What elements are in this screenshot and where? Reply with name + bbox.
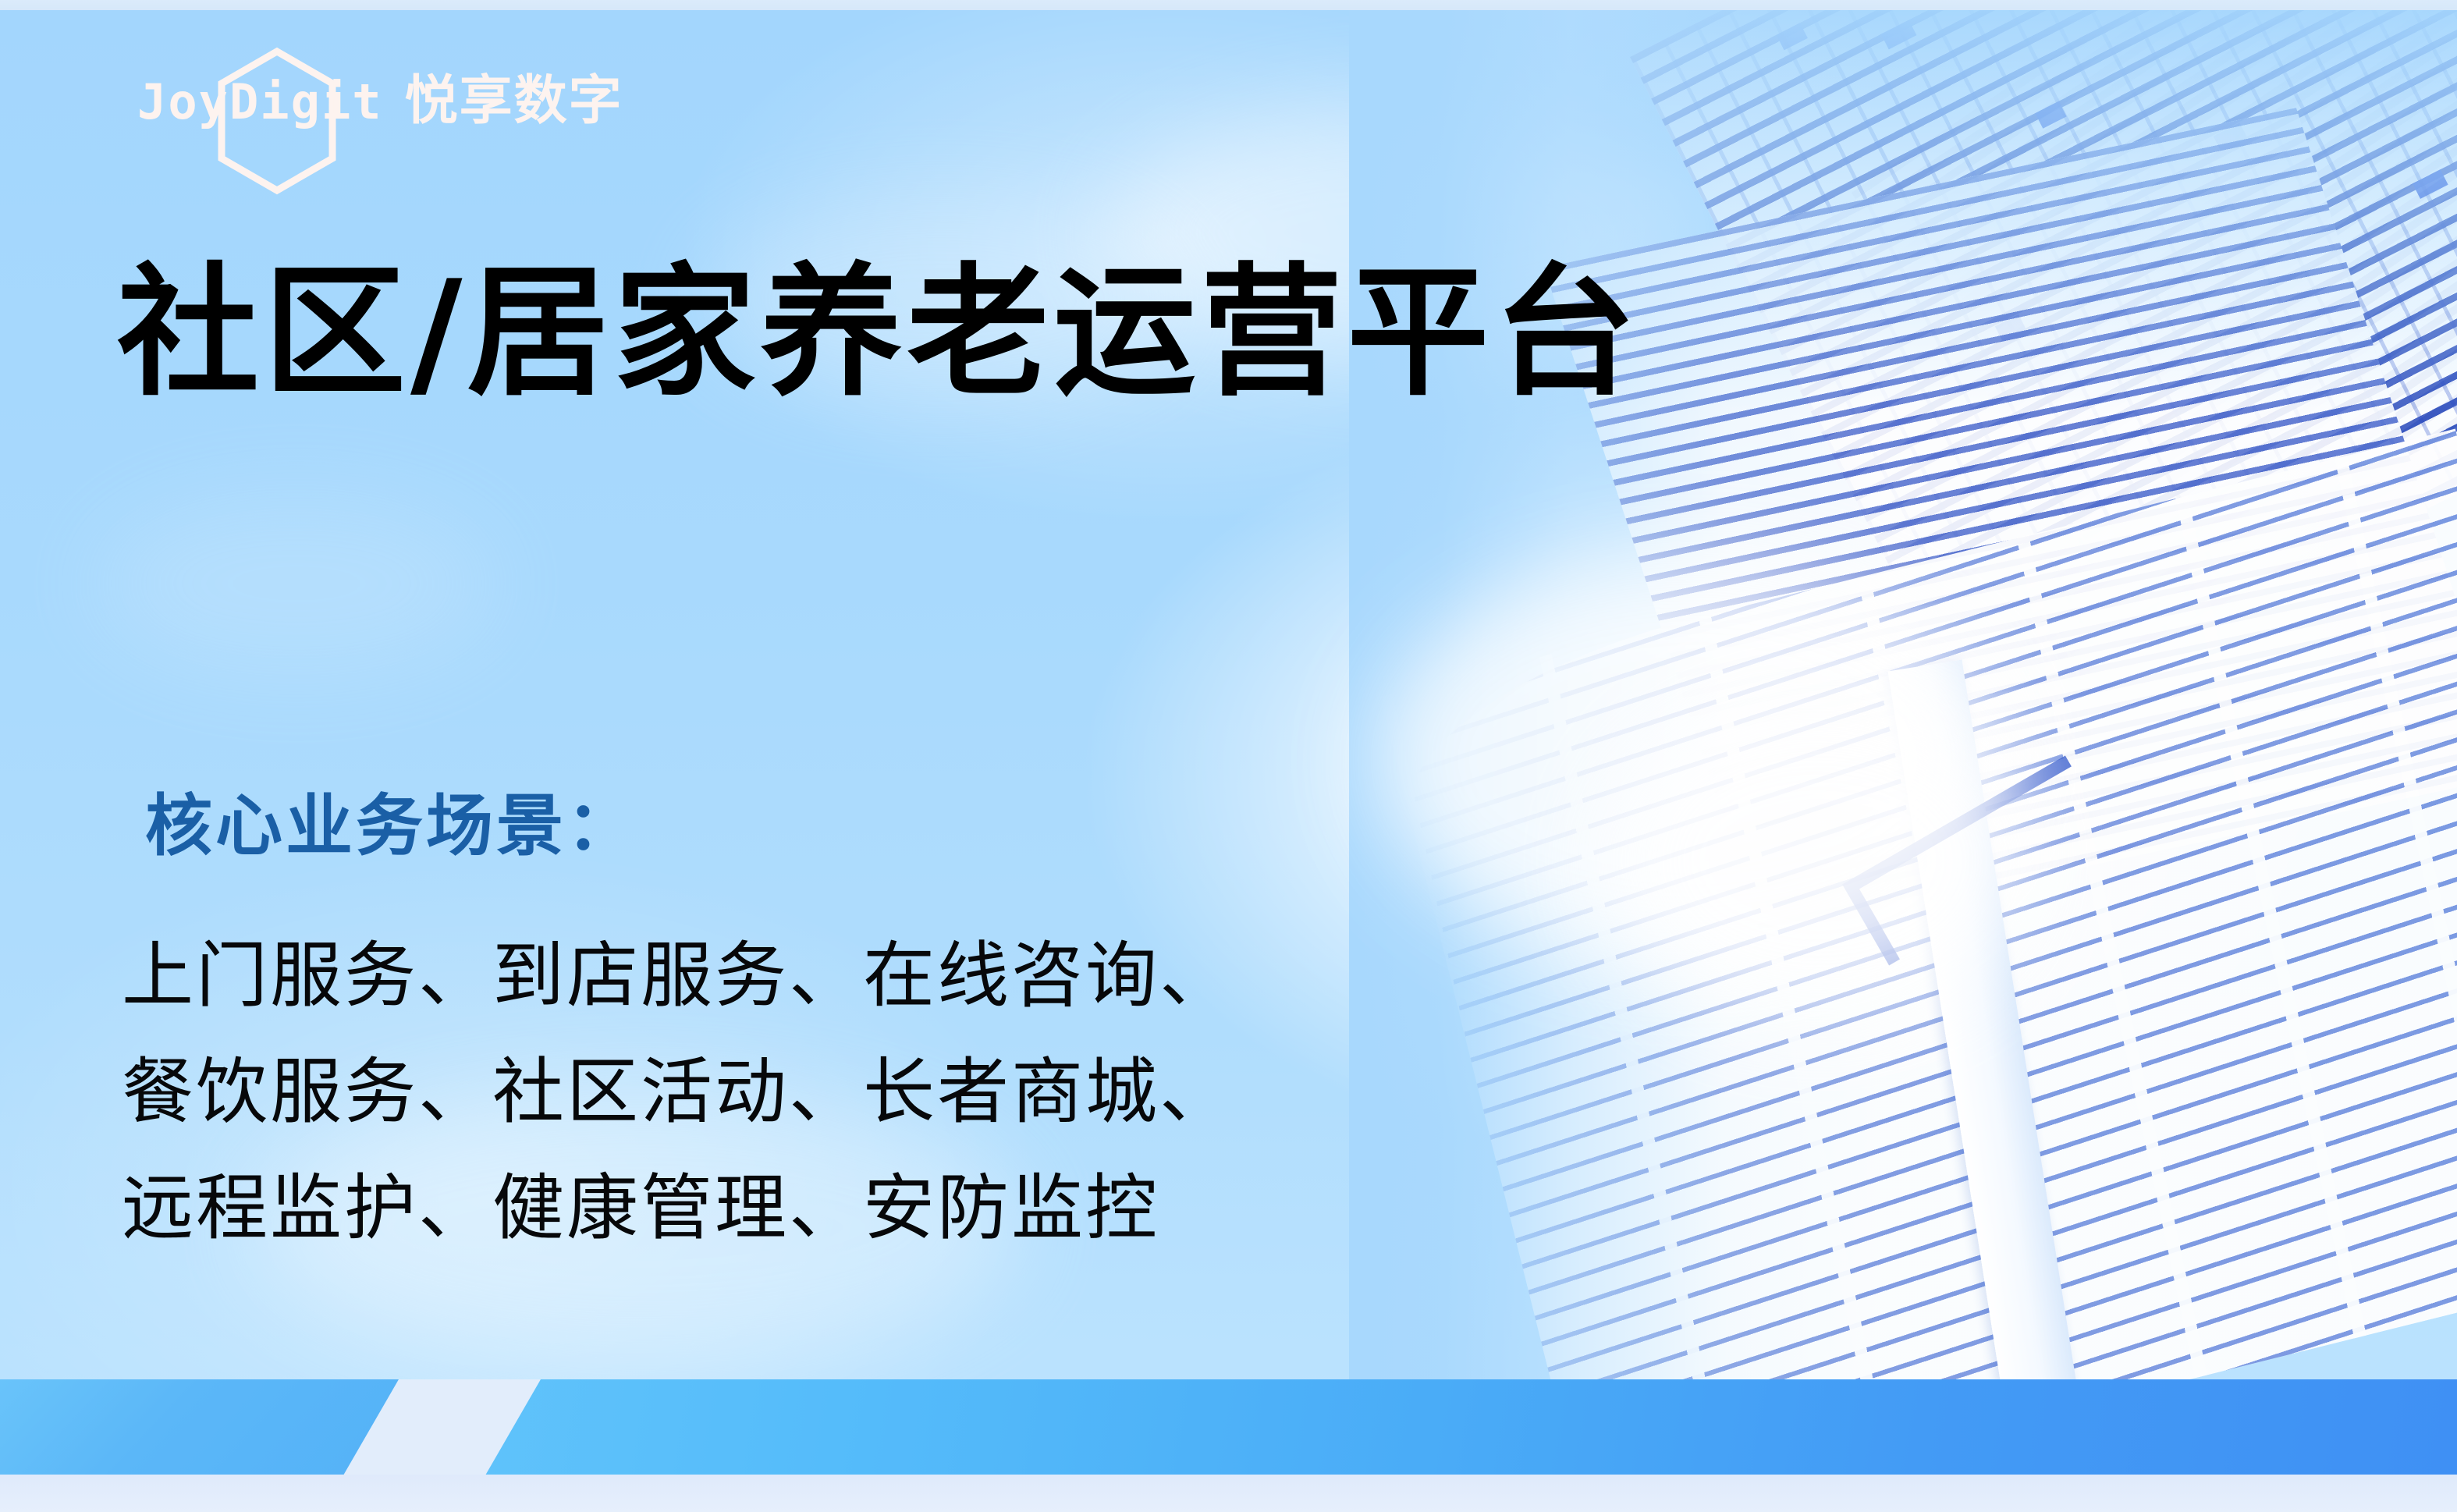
scene-line: 餐饮服务、社区活动、长者商城、 <box>122 1034 1234 1150</box>
cloud-blob <box>1600 697 2036 1024</box>
logo-latin-text: JoyDigit <box>137 78 383 126</box>
slide-root: JoyDigit 悦享数字 社区/居家养老运营平台 核心业务场景： 上门服务、到… <box>0 0 2457 1512</box>
logo-chinese-text: 悦享数字 <box>405 75 623 128</box>
scene-line: 远程监护、健康管理、安防监控 <box>122 1150 1234 1266</box>
brand-logo[interactable]: JoyDigit 悦享数字 <box>137 75 623 128</box>
top-edge-strip <box>0 0 2457 10</box>
bottom-band <box>0 1379 2457 1512</box>
cloud-blob <box>1951 104 2356 307</box>
logo-wordmark: JoyDigit 悦享数字 <box>137 75 623 128</box>
band-footer-strip <box>0 1475 2457 1512</box>
scene-line: 上门服务、到店服务、在线咨询、 <box>122 917 1234 1034</box>
scene-list: 上门服务、到店服务、在线咨询、 餐饮服务、社区活动、长者商城、 远程监护、健康管… <box>122 917 1234 1266</box>
page-title: 社区/居家养老运营平台 <box>117 257 1640 408</box>
section-subhead: 核心业务场景： <box>145 771 637 868</box>
cloud-blob <box>94 494 499 673</box>
